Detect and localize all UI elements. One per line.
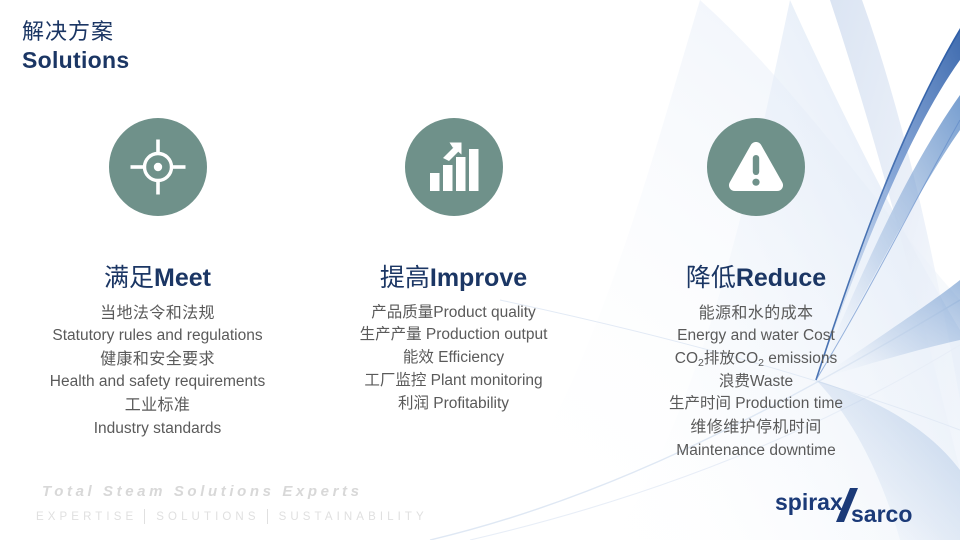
column-line: CO2排放CO2 emissions [606,348,906,371]
column-line: 工业标准 [10,394,305,418]
column-line: 维修维护停机时间 [606,416,906,440]
column-line: Maintenance downtime [606,440,906,463]
column-line: 生产时间 Production time [606,393,906,416]
footer-divider [144,509,145,524]
column-heading-reduce: 降低Reduce [606,265,906,293]
column-line: Health and safety requirements [10,371,305,394]
column-line: 健康和安全要求 [10,348,305,372]
footer-divider [267,509,268,524]
footer-pillar: SOLUTIONS [156,511,259,523]
page-title-english: Solutions [22,48,129,74]
column-heading-improve: 提高Improve [306,265,601,293]
column-heading-meet: 满足Meet [10,265,305,293]
column-heading-meet-cn: 满足 [104,264,154,292]
bar-chart-growth-icon [405,118,503,216]
column-line: 浪费Waste [606,371,906,394]
column-heading-reduce-cn: 降低 [686,264,736,292]
slide-canvas: 解决方案 Solutions 满足Meet 当地法令和法规Statutory r… [0,0,960,540]
page-title: 解决方案 Solutions [22,20,129,73]
column-line: 当地法令和法规 [10,302,305,326]
column-lines-improve: 产品质量Product quality生产产量 Production outpu… [306,302,601,416]
page-title-chinese: 解决方案 [22,20,129,45]
column-lines-reduce: 能源和水的成本Energy and water CostCO2排放CO2 emi… [606,302,906,463]
warning-triangle-icon [707,118,805,216]
footer-tagline: Total Steam Solutions Experts [42,483,363,500]
column-heading-improve-en: Improve [430,264,527,292]
column-lines-meet: 当地法令和法规Statutory rules and regulations健康… [10,302,305,441]
target-icon [109,118,207,216]
footer-pillar: EXPERTISE [36,511,137,523]
logo-word-spirax: spirax [775,489,843,515]
column-line: Industry standards [10,418,305,441]
solution-column-reduce: 降低Reduce 能源和水的成本Energy and water CostCO2… [606,118,906,462]
footer-pillar: SUSTAINABILITY [279,511,428,523]
column-line: 工厂监控 Plant monitoring [306,370,601,393]
column-line: 能源和水的成本 [606,302,906,326]
column-line: 产品质量Product quality [306,302,601,325]
column-line: Statutory rules and regulations [10,325,305,348]
column-line: Energy and water Cost [606,325,906,348]
column-line: 能效 Efficiency [306,347,601,370]
solution-column-meet: 满足Meet 当地法令和法规Statutory rules and regula… [10,118,305,440]
column-heading-meet-en: Meet [154,264,211,292]
column-heading-reduce-en: Reduce [736,264,826,292]
logo-word-sarco: sarco [851,501,912,527]
column-heading-improve-cn: 提高 [380,264,430,292]
footer-pillars: EXPERTISESOLUTIONSSUSTAINABILITY [36,509,428,524]
solution-column-improve: 提高Improve 产品质量Product quality生产产量 Produc… [306,118,601,415]
column-line: 生产产量 Production output [306,324,601,347]
column-line: 利润 Profitability [306,393,601,416]
spirax-sarco-logo: spirax sarco [775,488,945,530]
